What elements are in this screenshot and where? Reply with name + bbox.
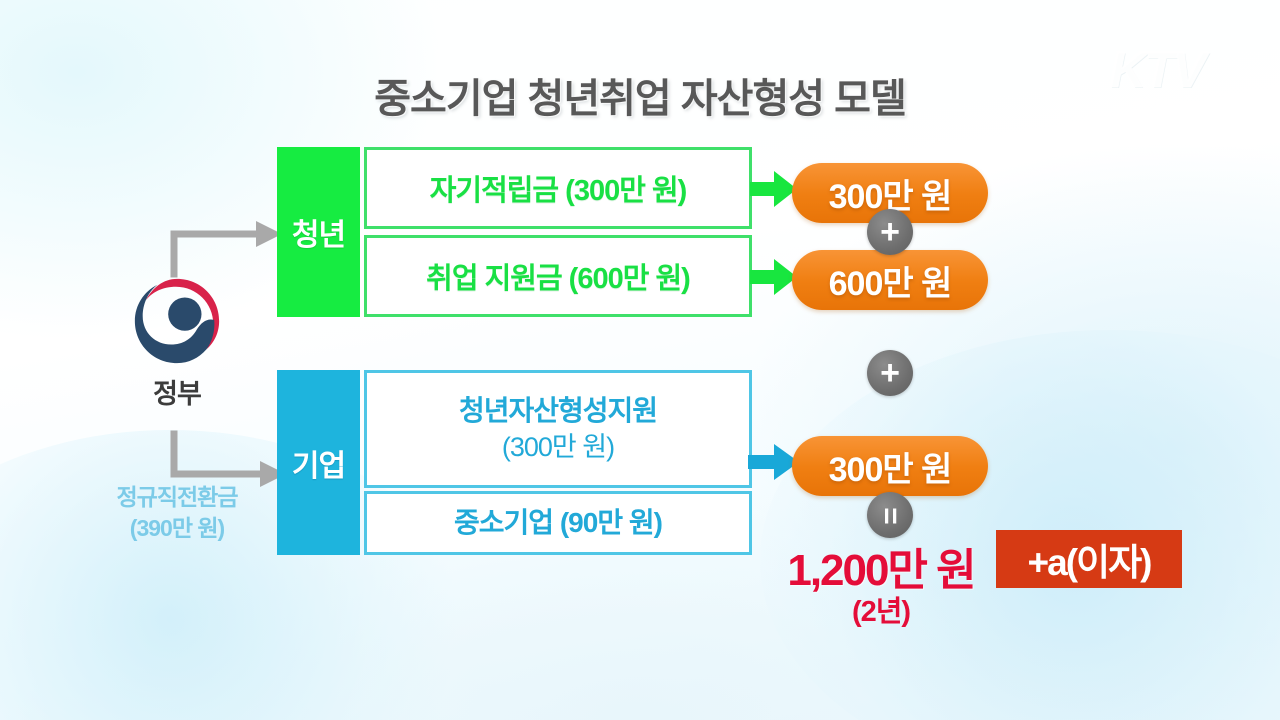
company-result-pill-300: 300만 원 bbox=[792, 436, 988, 496]
youth-row-2-label: 취업 지원금 (600만 원) bbox=[426, 255, 690, 297]
company-row-1-label: 청년자산형성지원 bbox=[459, 393, 657, 429]
plus-circle-badge-icon: + bbox=[867, 209, 913, 255]
total-period: (2년) bbox=[766, 588, 996, 630]
plus-youth-symbol: + bbox=[880, 215, 900, 249]
korea-government-taegeuk-emblem-icon bbox=[128, 272, 226, 370]
interest-label: +a(이자) bbox=[1028, 532, 1151, 586]
equals-symbol: = bbox=[873, 507, 907, 523]
company-row-sme: 중소기업 (90만 원) bbox=[364, 491, 752, 555]
interest-badge: +a(이자) bbox=[996, 530, 1182, 588]
youth-tag-label: 청년 bbox=[292, 210, 345, 254]
company-row-1-amount: (300만 원) bbox=[502, 429, 614, 465]
youth-result-2-value: 600만 원 bbox=[829, 256, 952, 305]
plus-circle-badge-icon: + bbox=[867, 350, 913, 396]
youth-category-tag: 청년 bbox=[277, 147, 360, 317]
company-category-tag: 기업 bbox=[277, 370, 360, 555]
youth-row-1-label: 자기적립금 (300만 원) bbox=[430, 167, 687, 209]
government-source-group: 정부 bbox=[112, 272, 242, 411]
company-tag-label: 기업 bbox=[292, 441, 345, 485]
equals-circle-badge-icon: = bbox=[867, 492, 913, 538]
elbow-arrow-to-youth-icon bbox=[168, 216, 284, 278]
government-note-line1: 정규직전환금 bbox=[62, 482, 292, 513]
government-label: 정부 bbox=[112, 372, 242, 411]
arrow-right-icon bbox=[750, 170, 798, 208]
arrow-right-icon bbox=[750, 258, 798, 296]
youth-result-pill-600: 600만 원 bbox=[792, 250, 988, 310]
company-result-value: 300만 원 bbox=[829, 442, 952, 491]
infographic-canvas: KTV 국민방송 중소기업 청년취업 자산형성 모델 정부 정규직전환금 (39… bbox=[0, 0, 1280, 720]
company-row-youth-asset-support: 청년자산형성지원 (300만 원) bbox=[364, 370, 752, 488]
government-note-line2: (390만 원) bbox=[62, 513, 292, 544]
background-blob-right bbox=[760, 330, 1280, 720]
plus-groups-symbol: + bbox=[880, 356, 900, 390]
page-title: 중소기업 청년취업 자산형성 모델 bbox=[0, 66, 1280, 124]
youth-row-self-savings: 자기적립금 (300만 원) bbox=[364, 147, 752, 229]
government-note: 정규직전환금 (390만 원) bbox=[62, 482, 292, 544]
youth-row-employment-support: 취업 지원금 (600만 원) bbox=[364, 235, 752, 317]
company-row-2-label: 중소기업 (90만 원) bbox=[454, 505, 662, 541]
